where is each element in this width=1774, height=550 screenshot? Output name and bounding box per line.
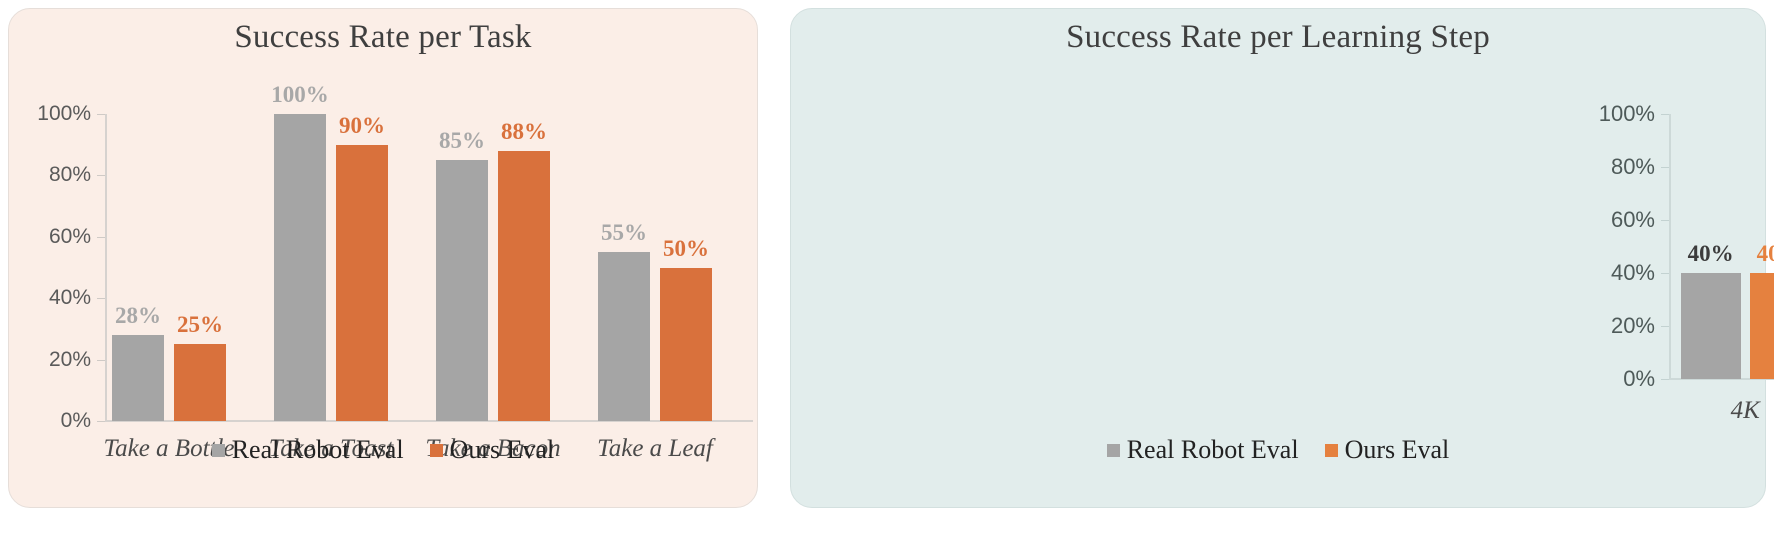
y-axis-tick [97, 114, 105, 115]
y-axis-line [1669, 114, 1671, 379]
y-axis-tick-label: 100% [37, 102, 91, 126]
y-axis-tick [97, 421, 105, 422]
y-axis-tick-label: 80% [1611, 154, 1655, 180]
bar-value-label: 50% [663, 236, 709, 262]
legend-label: Real Robot Eval [232, 435, 404, 465]
chart-title: Success Rate per Learning Step [791, 19, 1765, 56]
legend-item-real-robot-eval[interactable]: Real Robot Eval [212, 435, 404, 465]
bar [174, 344, 226, 421]
plot-area: 100%80%60%40%20%0% 40%40%61%63%79%76% 4K… [1669, 114, 1774, 379]
y-axis-tick [97, 237, 105, 238]
y-axis-tick-label: 0% [1623, 366, 1655, 392]
bar [112, 335, 164, 421]
legend-item-ours-eval[interactable]: Ours Eval [430, 435, 555, 465]
bar-value-label: 90% [339, 113, 385, 139]
y-axis-tick [1661, 326, 1669, 327]
bar-value-label: 85% [439, 128, 485, 154]
y-axis-tick [1661, 273, 1669, 274]
legend-label: Ours Eval [450, 435, 555, 465]
bar [598, 252, 650, 421]
chart-panel-success-rate-per-task: Success Rate per Task 100%80%60%40%20%0%… [8, 8, 758, 508]
bar [498, 151, 550, 421]
legend-label: Real Robot Eval [1127, 435, 1299, 465]
bar [336, 145, 388, 421]
bar-value-label: 25% [177, 312, 223, 338]
y-axis-tick [97, 175, 105, 176]
bar [274, 114, 326, 421]
bar-value-label: 40% [1757, 241, 1774, 267]
y-axis-tick-label: 40% [1611, 260, 1655, 286]
y-axis-tick-label: 80% [49, 163, 91, 187]
y-axis-tick-label: 20% [1611, 313, 1655, 339]
chart-title: Success Rate per Task [9, 19, 757, 56]
bar-value-label: 100% [271, 82, 329, 108]
y-axis-tick-label: 40% [49, 286, 91, 310]
bar [436, 160, 488, 421]
category-label: 4K [1731, 397, 1760, 425]
legend-label: Ours Eval [1345, 435, 1450, 465]
bar-value-label: 28% [115, 303, 161, 329]
bar-value-label: 88% [501, 119, 547, 145]
y-axis-tick-label: 0% [61, 409, 91, 433]
y-axis-tick [1661, 379, 1669, 380]
bar [660, 268, 712, 422]
bar-value-label: 55% [601, 220, 647, 246]
y-axis-tick [1661, 167, 1669, 168]
y-axis-tick [97, 360, 105, 361]
y-axis-line [105, 114, 107, 421]
y-axis-tick-label: 60% [1611, 207, 1655, 233]
plot-area: 100%80%60%40%20%0% 28%25%100%90%85%88%55… [105, 114, 753, 421]
legend-item-ours-eval[interactable]: Ours Eval [1325, 435, 1450, 465]
chart-legend: Real Robot Eval Ours Eval [791, 435, 1765, 465]
chart-panel-success-rate-per-learning-step: Success Rate per Learning Step 100%80%60… [790, 8, 1766, 508]
y-axis-tick-label: 60% [49, 225, 91, 249]
y-axis-tick-label: 100% [1599, 101, 1655, 127]
legend-item-real-robot-eval[interactable]: Real Robot Eval [1107, 435, 1299, 465]
bar [1681, 273, 1741, 379]
legend-swatch-icon [1107, 444, 1120, 457]
legend-swatch-icon [1325, 444, 1338, 457]
figure-root: Success Rate per Task 100%80%60%40%20%0%… [0, 0, 1774, 550]
bar-value-label: 40% [1688, 241, 1734, 267]
y-axis-tick-label: 20% [49, 348, 91, 372]
chart-legend: Real Robot Eval Ours Eval [9, 435, 757, 465]
bar [1750, 273, 1774, 379]
y-axis-tick [1661, 114, 1669, 115]
y-axis-tick [1661, 220, 1669, 221]
legend-swatch-icon [212, 444, 225, 457]
y-axis-tick [97, 298, 105, 299]
legend-swatch-icon [430, 444, 443, 457]
